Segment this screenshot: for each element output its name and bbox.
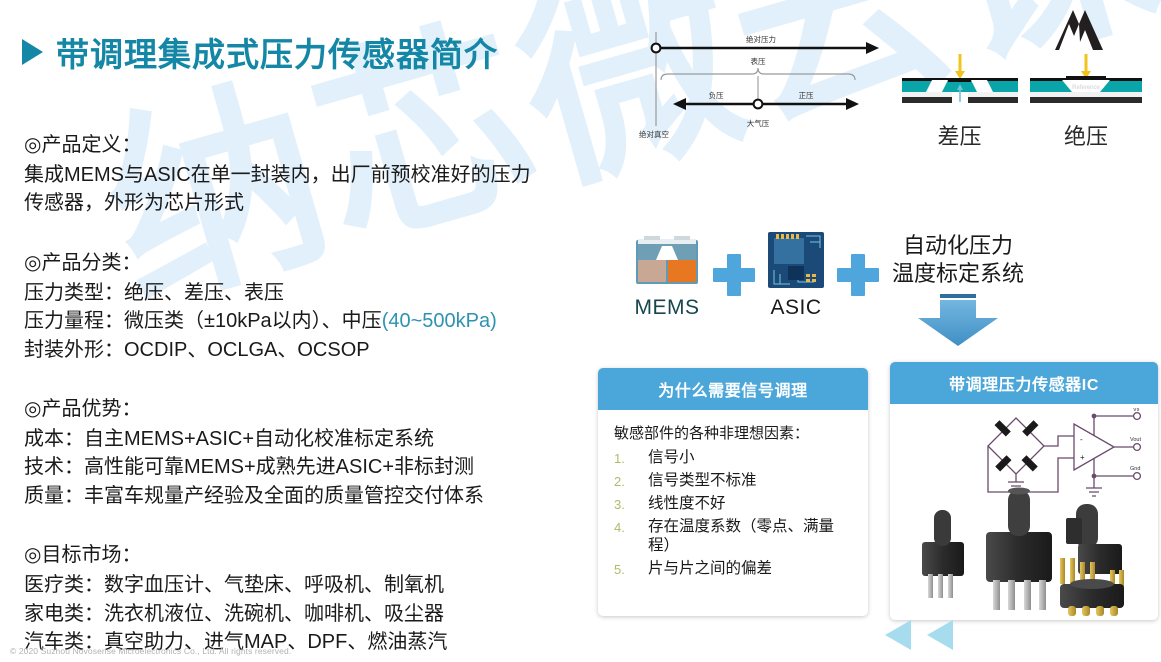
range-base: 压力量程：微压类（±10kPa以内）、中压 [24, 310, 382, 332]
system-line-2: 温度标定系统 [892, 260, 1024, 288]
label-absolute-vacuum: 绝对真空 [639, 129, 669, 139]
section-line: 封装外形：OCDIP、OCLGA、OCSOP [24, 336, 609, 364]
list-text: 片与片之间的偏差 [648, 560, 772, 579]
pressure-sensor-packages-photo [898, 470, 1152, 616]
svg-text:+: + [1080, 453, 1085, 462]
list-text: 信号类型不标准 [648, 472, 757, 491]
system-line-1: 自动化压力 [892, 232, 1024, 260]
section-product-definition: ◎产品定义： 集成MEMS与ASIC在单一封装内，出厂前预校准好的压力 传感器，… [24, 128, 609, 218]
panel-illustration: - + Vs Vout Gnd [890, 404, 1158, 616]
section-product-advantages: ◎产品优势： 成本：自主MEMS+ASIC+自动化校准标定系统 技术：高性能可靠… [24, 392, 609, 510]
list-item: 4. 存在温度系数（零点、满量程） [614, 518, 854, 556]
combo-label-mems: MEMS [634, 296, 700, 320]
list-text: 线性度不好 [648, 495, 726, 514]
content-body: ◎产品定义： 集成MEMS与ASIC在单一封装内，出厂前预校准好的压力 传感器，… [24, 128, 609, 662]
label-atmospheric-pressure: 大气压 [747, 118, 770, 128]
list-item: 2. 信号类型不标准 [614, 472, 854, 491]
section-line: 压力类型：绝压、差压、表压 [24, 279, 609, 307]
absolute-sensor-cross-section-icon: Reference [1022, 52, 1150, 112]
list-text: 信号小 [648, 449, 695, 468]
section-line: 成本：自主MEMS+ASIC+自动化校准标定系统 [24, 425, 609, 453]
list-item: 1. 信号小 [614, 449, 854, 468]
mems-chip-icon [634, 232, 700, 288]
arrow-down-icon [912, 292, 1004, 348]
list-item: 5. 片与片之间的偏差 [614, 560, 854, 579]
section-line-range: 压力量程：微压类（±10kPa以内）、中压(40~500kPa) [24, 307, 609, 335]
asic-chip-icon [768, 232, 824, 288]
panel-header: 为什么需要信号调理 [598, 368, 868, 410]
cross-section-label: 差压 [892, 119, 1027, 151]
chevron-left-icon [885, 620, 911, 650]
composition-row: MEMS ASIC [634, 232, 1154, 342]
section-line: 医疗类：数字血压计、气垫床、呼吸机、制氧机 [24, 571, 609, 599]
list-marker: 2. [614, 472, 648, 489]
panel-why-signal-conditioning: 为什么需要信号调理 敏感部件的各种非理想因素： 1. 信号小 2. 信号类型不标… [598, 368, 868, 616]
page-title: 带调理集成式压力传感器简介 [22, 28, 498, 76]
section-line: 传感器，外形为芯片形式 [24, 189, 609, 217]
pressure-reference-diagram: 绝对压力 表压 负压 正压 绝对真空 大气压 [624, 14, 890, 144]
section-heading: ◎产品定义： [24, 128, 609, 157]
combo-label-asic: ASIC [768, 296, 824, 320]
panel-intro-text: 敏感部件的各种非理想因素： [614, 422, 854, 443]
page-title-text: 带调理集成式压力传感器简介 [56, 28, 498, 76]
section-line: 家电类：洗衣机液位、洗碗机、咖啡机、吸尘器 [24, 600, 609, 628]
combo-asic: ASIC [768, 232, 824, 320]
decorative-chevrons [885, 620, 953, 650]
label-vs: Vs [1133, 408, 1140, 413]
cross-section-label: 绝压 [1022, 119, 1150, 151]
triangle-right-icon [22, 39, 43, 65]
slide-canvas: 纳芯微云课堂 带调理集成式压力传感器简介 ◎产品定义： 集成MEMS与ASIC在… [0, 0, 1161, 662]
combo-calibration-system: 自动化压力 温度标定系统 [892, 232, 1024, 353]
range-accent: (40~500kPa) [382, 310, 497, 332]
copyright-footer: © 2020 Suzhou Novosense Microelectronics… [10, 646, 291, 656]
cross-section-absolute: Reference 绝压 [1022, 52, 1150, 151]
differential-sensor-cross-section-icon [892, 52, 1027, 112]
list-item: 3. 线性度不好 [614, 495, 854, 514]
list-text: 存在温度系数（零点、满量程） [648, 518, 854, 556]
label-gauge-pressure: 表压 [751, 56, 766, 66]
section-heading: ◎产品分类： [24, 246, 609, 275]
section-line: 技术：高性能可靠MEMS+成熟先进ASIC+非标封测 [24, 453, 609, 481]
cross-section-differential: 差压 [892, 52, 1027, 151]
label-vout: Vout [1130, 437, 1141, 443]
label-positive-pressure: 正压 [799, 91, 814, 100]
svg-text:-: - [1080, 435, 1083, 444]
reference-label: Reference [1072, 85, 1100, 91]
combo-mems: MEMS [634, 232, 700, 320]
section-product-classification: ◎产品分类： 压力类型：绝压、差压、表压 压力量程：微压类（±10kPa以内）、… [24, 246, 609, 364]
list-marker: 3. [614, 495, 648, 512]
section-heading: ◎产品优势： [24, 392, 609, 421]
plus-icon-1 [713, 254, 755, 296]
panel-conditioned-pressure-ic: 带调理压力传感器IC [890, 362, 1158, 620]
label-absolute-pressure: 绝对压力 [746, 34, 776, 44]
novosense-n-logo [1049, 6, 1109, 57]
section-line: 集成MEMS与ASIC在单一封装内，出厂前预校准好的压力 [24, 161, 609, 189]
chevron-left-icon [927, 620, 953, 650]
nonideal-factors-list: 1. 信号小 2. 信号类型不标准 3. 线性度不好 4. 存在温度系数（零点、… [614, 449, 854, 578]
plus-icon-2 [837, 254, 879, 296]
list-marker: 1. [614, 449, 648, 466]
panel-header: 带调理压力传感器IC [890, 362, 1158, 404]
label-negative-pressure: 负压 [709, 90, 724, 100]
list-marker: 4. [614, 518, 648, 535]
section-target-market: ◎目标市场： 医疗类：数字血压计、气垫床、呼吸机、制氧机 家电类：洗衣机液位、洗… [24, 538, 609, 656]
section-line: 质量：丰富车规量产经验及全面的质量管控交付体系 [24, 482, 609, 510]
section-heading: ◎目标市场： [24, 538, 609, 567]
list-marker: 5. [614, 560, 648, 577]
